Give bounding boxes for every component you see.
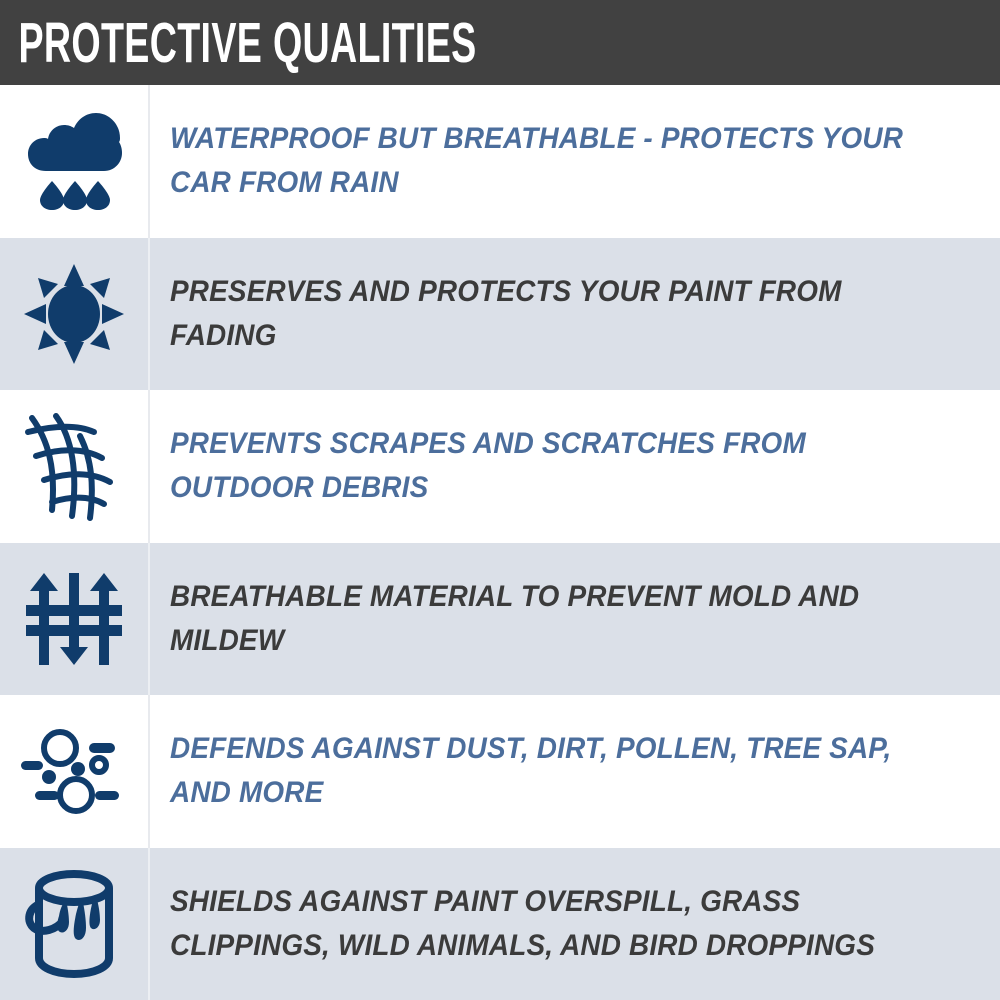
list-item: WATERPROOF BUT BREATHABLE - PROTECTS YOU… xyxy=(0,85,1000,238)
list-item-label: WATERPROOF BUT BREATHABLE - PROTECTS YOU… xyxy=(170,117,921,205)
list-item-label: PREVENTS SCRAPES AND SCRATCHES FROM OUTD… xyxy=(170,422,921,510)
text-cell: SHIELDS AGAINST PAINT OVERSPILL, GRASS C… xyxy=(148,880,1000,968)
column-divider xyxy=(148,390,150,543)
column-divider xyxy=(148,85,150,238)
list-item: SHIELDS AGAINST PAINT OVERSPILL, GRASS C… xyxy=(0,848,1000,1000)
dust-particles-icon xyxy=(19,719,129,823)
list-item: PREVENTS SCRAPES AND SCRATCHES FROM OUTD… xyxy=(0,390,1000,543)
header-bar: PROTECTIVE QUALITIES xyxy=(0,0,1000,85)
icon-cell xyxy=(0,390,148,543)
text-cell: PRESERVES AND PROTECTS YOUR PAINT FROM F… xyxy=(148,270,1000,358)
list-item: DEFENDS AGAINST DUST, DIRT, POLLEN, TREE… xyxy=(0,695,1000,848)
list-item: PRESERVES AND PROTECTS YOUR PAINT FROM F… xyxy=(0,238,1000,391)
icon-cell xyxy=(0,695,148,848)
icon-cell xyxy=(0,238,148,391)
icon-cell xyxy=(0,85,148,238)
icon-cell xyxy=(0,543,148,696)
text-cell: PREVENTS SCRAPES AND SCRATCHES FROM OUTD… xyxy=(148,422,1000,510)
list-item-label: DEFENDS AGAINST DUST, DIRT, POLLEN, TREE… xyxy=(170,727,921,815)
breathable-arrows-icon xyxy=(22,567,126,671)
column-divider xyxy=(148,238,150,391)
text-cell: DEFENDS AGAINST DUST, DIRT, POLLEN, TREE… xyxy=(148,727,1000,815)
rain-cloud-icon xyxy=(22,109,126,213)
text-cell: WATERPROOF BUT BREATHABLE - PROTECTS YOU… xyxy=(148,117,1000,205)
column-divider xyxy=(148,543,150,696)
column-divider xyxy=(148,695,150,848)
page-title: PROTECTIVE QUALITIES xyxy=(0,14,477,72)
protective-qualities-infographic: PROTECTIVE QUALITIES xyxy=(0,0,1000,1000)
list-item-label: BREATHABLE MATERIAL TO PREVENT MOLD AND … xyxy=(170,575,921,663)
column-divider xyxy=(148,848,150,1000)
paint-can-icon xyxy=(22,866,126,982)
feature-list: WATERPROOF BUT BREATHABLE - PROTECTS YOU… xyxy=(0,85,1000,1000)
list-item-label: SHIELDS AGAINST PAINT OVERSPILL, GRASS C… xyxy=(170,880,921,968)
scratches-icon xyxy=(22,410,126,522)
list-item-label: PRESERVES AND PROTECTS YOUR PAINT FROM F… xyxy=(170,270,921,358)
list-item: BREATHABLE MATERIAL TO PREVENT MOLD AND … xyxy=(0,543,1000,696)
text-cell: BREATHABLE MATERIAL TO PREVENT MOLD AND … xyxy=(148,575,1000,663)
sun-icon xyxy=(22,262,126,366)
icon-cell xyxy=(0,848,148,1000)
